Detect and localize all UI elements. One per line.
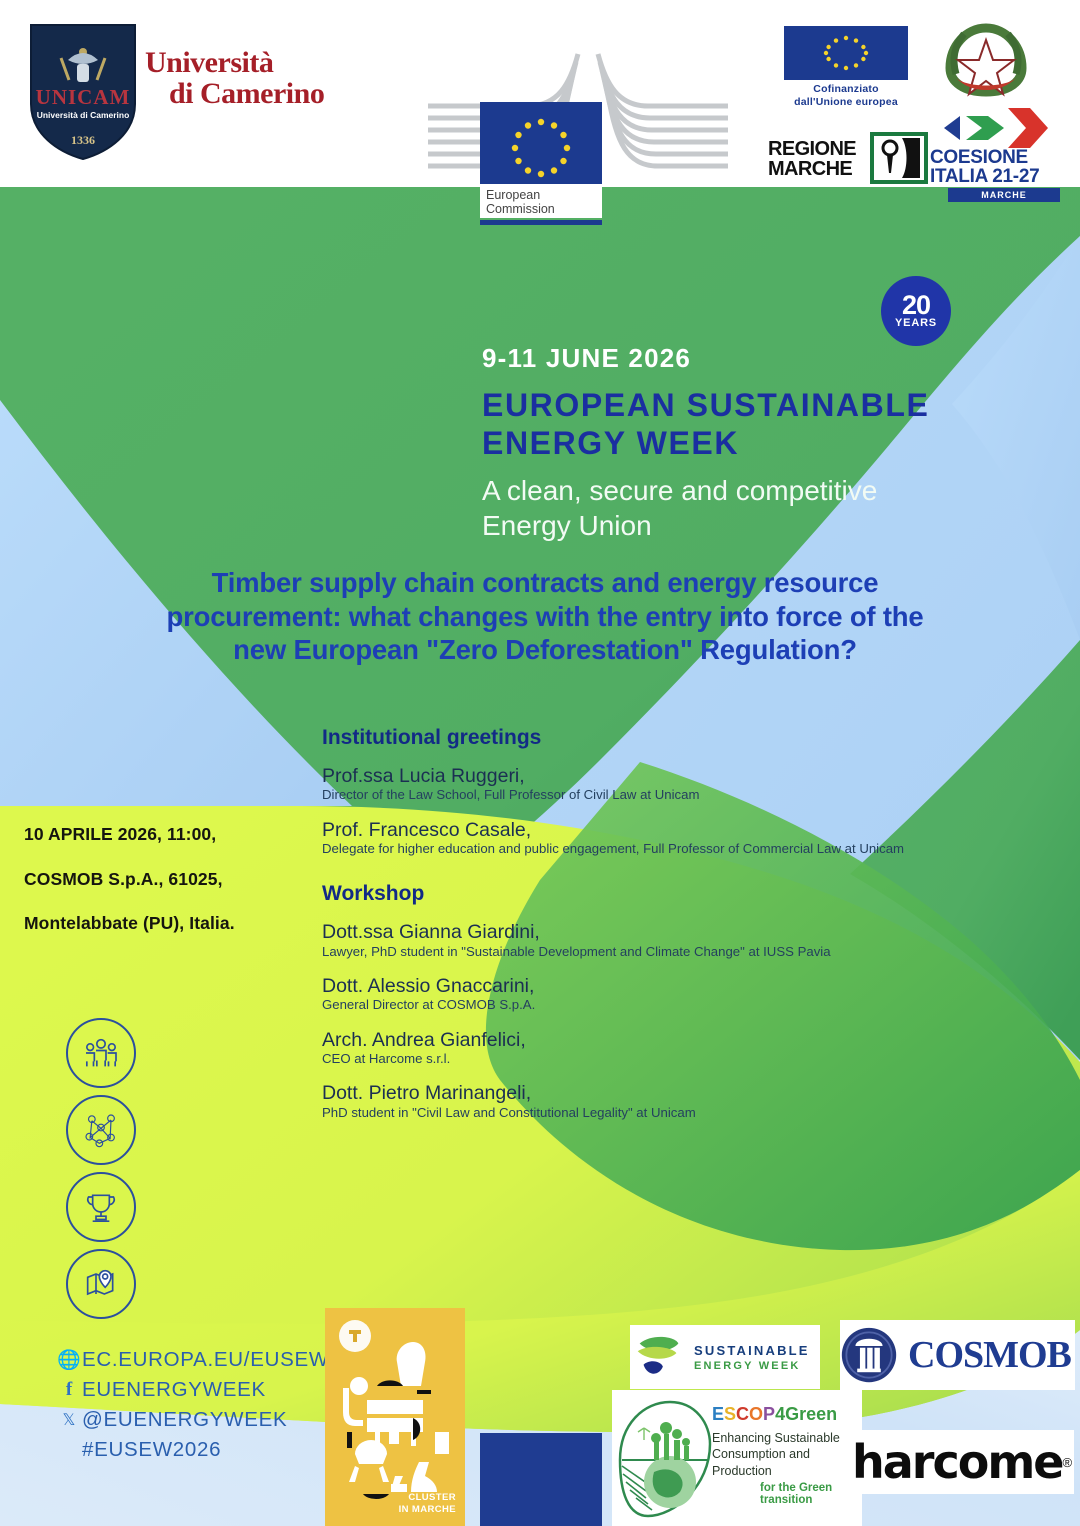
program-block: Institutional greetings Prof.ssa Lucia R…	[322, 726, 1064, 1137]
harcome-logo: harcome ®	[852, 1430, 1074, 1494]
unicam-wordmark-line1: Università	[145, 48, 385, 78]
sew-line2: ENERGY WEEK	[694, 1360, 810, 1372]
escop4green-logo: ESCOP4Green Enhancing Sustainable Consum…	[612, 1390, 862, 1526]
speaker-role: Director of the Law School, Full Profess…	[322, 787, 1064, 802]
social-link-website[interactable]: 🌐 EC.EUROPA.EU/EUSEW	[56, 1348, 329, 1372]
headline-line3: new European "Zero Deforestation" Regula…	[60, 633, 1030, 667]
escop-letter-o: O	[749, 1404, 763, 1424]
speaker-role: PhD student in "Civil Law and Constituti…	[322, 1105, 1064, 1120]
event-info-city: Montelabbate (PU), Italia.	[24, 915, 314, 933]
speaker-entry: Dott. Alessio Gnaccarini, General Direct…	[322, 976, 1064, 1013]
sew-line1: SUSTAINABLE	[694, 1343, 810, 1358]
speaker-name: Dott. Pietro Marinangeli,	[322, 1083, 1064, 1103]
speaker-entry: Prof. Francesco Casale, Delegate for hig…	[322, 820, 1064, 857]
coesione-italia-logo: COESIONE ITALIA 21-27 MARCHE	[930, 104, 1070, 202]
cofunded-line1: Cofinanziato	[784, 83, 908, 96]
ec-caption-line2: Commission	[486, 202, 596, 216]
speaker-name: Arch. Andrea Gianfelici,	[322, 1030, 1064, 1050]
escop-letter-e: E	[712, 1404, 724, 1424]
escop-word-green: Green	[785, 1404, 837, 1424]
ec-logo-rule	[480, 220, 602, 225]
escop-subtitle: Enhancing Sustainable Consumption and Pr…	[712, 1430, 862, 1479]
escop-letter-c: C	[736, 1404, 749, 1424]
european-commission-logo: European Commission	[480, 102, 602, 234]
social-link-x[interactable]: 𝕏 @EUENERGYWEEK	[56, 1408, 329, 1432]
escop-globe-leaf-icon	[614, 1394, 714, 1524]
workshop-heading: Workshop	[322, 882, 1064, 906]
cofunded-eu-logo: Cofinanziato dall'Unione europea	[784, 26, 908, 108]
event-dates: 9-11 JUNE 2026	[482, 343, 1002, 374]
map-pin-icon	[66, 1249, 136, 1319]
anniversary-number: 20	[902, 293, 930, 317]
people-group-icon	[66, 1018, 136, 1088]
speaker-role: Delegate for higher education and public…	[322, 841, 1064, 856]
network-nodes-icon	[66, 1095, 136, 1165]
coesione-chevron-icon	[930, 104, 1070, 148]
facebook-icon: f	[56, 1379, 82, 1401]
globe-icon: 🌐	[56, 1348, 82, 1372]
escop-tagline: for the Green transition	[760, 1482, 862, 1506]
ec-logo-caption: European Commission	[480, 184, 602, 218]
speaker-name: Prof.ssa Lucia Ruggeri,	[322, 766, 1064, 786]
eusew-title-block: 9-11 JUNE 2026 EUROPEAN SUSTAINABLE ENER…	[482, 343, 1002, 544]
escop-letter-p: P	[763, 1404, 775, 1424]
coesione-line2: ITALIA 21-27	[930, 167, 1070, 186]
speaker-entry: Dott.ssa Gianna Giardini, Lawyer, PhD st…	[322, 922, 1064, 959]
speaker-role: Lawyer, PhD student in "Sustainable Deve…	[322, 944, 1064, 959]
speaker-entry: Prof.ssa Lucia Ruggeri, Director of the …	[322, 766, 1064, 803]
sew-leaf-icon	[630, 1329, 688, 1385]
institutional-greetings-heading: Institutional greetings	[322, 726, 1064, 750]
event-info-datetime: 10 APRILE 2026, 11:00,	[24, 826, 314, 844]
escop-subtitle-line1: Enhancing Sustainable	[712, 1430, 862, 1446]
cosmob-logo: COSMOB	[840, 1320, 1075, 1390]
harcome-registered-mark: ®	[1062, 1455, 1072, 1470]
ec-caption-line1: European	[486, 188, 596, 202]
speaker-name: Prof. Francesco Casale,	[322, 820, 1064, 840]
coesione-ribbon: MARCHE	[948, 188, 1060, 202]
cluster-caption-line1: CLUSTER	[399, 1492, 456, 1504]
eusew-tagline-line2: Energy Union	[482, 508, 1002, 544]
speaker-entry: Dott. Pietro Marinangeli, PhD student in…	[322, 1083, 1064, 1120]
speaker-role: General Director at COSMOB S.p.A.	[322, 997, 1064, 1012]
sustainable-energy-week-logo: SUSTAINABLE ENERGY WEEK	[630, 1325, 820, 1389]
cluster-caption-line2: IN MARCHE	[399, 1504, 456, 1516]
eusew-tagline-line1: A clean, secure and competitive	[482, 473, 1002, 509]
unicam-shield-logo: UNICAM Università di Camerino 1336	[28, 22, 138, 162]
eusew-name: EUROPEAN SUSTAINABLE ENERGY WEEK	[482, 387, 1002, 463]
navy-placeholder-block	[480, 1433, 602, 1526]
eu-flag-icon-small	[784, 26, 908, 80]
hashtag: #EUSEW2026	[82, 1438, 221, 1462]
escop-subtitle-line2: Consumption and Production	[712, 1446, 862, 1479]
x-handle[interactable]: @EUENERGYWEEK	[82, 1408, 287, 1432]
social-links-block: 🌐 EC.EUROPA.EU/EUSEW f EUENERGYWEEK 𝕏 @E…	[56, 1348, 329, 1468]
headline-line2: procurement: what changes with the entry…	[60, 600, 1030, 634]
cluster-caption: CLUSTER IN MARCHE	[399, 1492, 456, 1516]
escop-letter-s: S	[724, 1404, 736, 1424]
cosmob-wordmark: COSMOB	[908, 1333, 1071, 1377]
cofunded-line2: dall'Unione europea	[784, 96, 908, 109]
eusew-name-line2: ENERGY WEEK	[482, 425, 1002, 463]
coesione-line1: COESIONE	[930, 148, 1070, 167]
anniversary-label: YEARS	[895, 317, 937, 329]
eusew-name-line1: EUROPEAN SUSTAINABLE	[482, 387, 1002, 425]
unicam-wordmark: Università di Camerino	[145, 48, 385, 118]
speaker-role: CEO at Harcome s.r.l.	[322, 1051, 1064, 1066]
trophy-icon	[66, 1172, 136, 1242]
event-info-venue: COSMOB S.p.A., 61025,	[24, 871, 314, 889]
headline-line1: Timber supply chain contracts and energy…	[60, 566, 1030, 600]
cluster-in-marche-logo: CLUSTER IN MARCHE	[325, 1308, 465, 1526]
eu-flag-icon	[480, 102, 602, 184]
svg-text:Università di Camerino: Università di Camerino	[37, 110, 130, 120]
speaker-name: Dott.ssa Gianna Giardini,	[322, 922, 1064, 942]
cosmob-column-icon	[840, 1326, 898, 1384]
social-link-facebook[interactable]: f EUENERGYWEEK	[56, 1378, 329, 1402]
speaker-name: Dott. Alessio Gnaccarini,	[322, 976, 1064, 996]
x-twitter-icon: 𝕏	[56, 1410, 82, 1430]
anniversary-badge: 20 YEARS	[881, 276, 951, 346]
unicam-wordmark-line2: di Camerino	[145, 78, 385, 110]
harcome-wordmark: harcome	[852, 1435, 1062, 1489]
social-hashtag-row: #EUSEW2026	[56, 1438, 329, 1462]
workshop-headline: Timber supply chain contracts and energy…	[60, 566, 1030, 667]
escop-digit-4: 4	[775, 1404, 785, 1424]
website-url[interactable]: EC.EUROPA.EU/EUSEW	[82, 1348, 329, 1372]
svg-text:1336: 1336	[71, 133, 95, 147]
regione-marche-symbol-icon	[870, 132, 928, 184]
italian-republic-emblem-icon	[938, 20, 1034, 100]
speaker-entry: Arch. Andrea Gianfelici, CEO at Harcome …	[322, 1030, 1064, 1067]
eusew-tagline: A clean, secure and competitive Energy U…	[482, 473, 1002, 545]
poster-canvas: UNICAM Università di Camerino 1336 Unive…	[0, 0, 1080, 1526]
header-logo-band: UNICAM Università di Camerino 1336 Unive…	[0, 0, 1080, 188]
facebook-handle[interactable]: EUENERGYWEEK	[82, 1378, 266, 1402]
escop-wordmark: ESCOP4Green	[712, 1404, 837, 1425]
event-info-block: 10 APRILE 2026, 11:00, COSMOB S.p.A., 61…	[24, 826, 314, 960]
svg-text:UNICAM: UNICAM	[36, 85, 131, 109]
theme-icon-column	[66, 1018, 136, 1326]
